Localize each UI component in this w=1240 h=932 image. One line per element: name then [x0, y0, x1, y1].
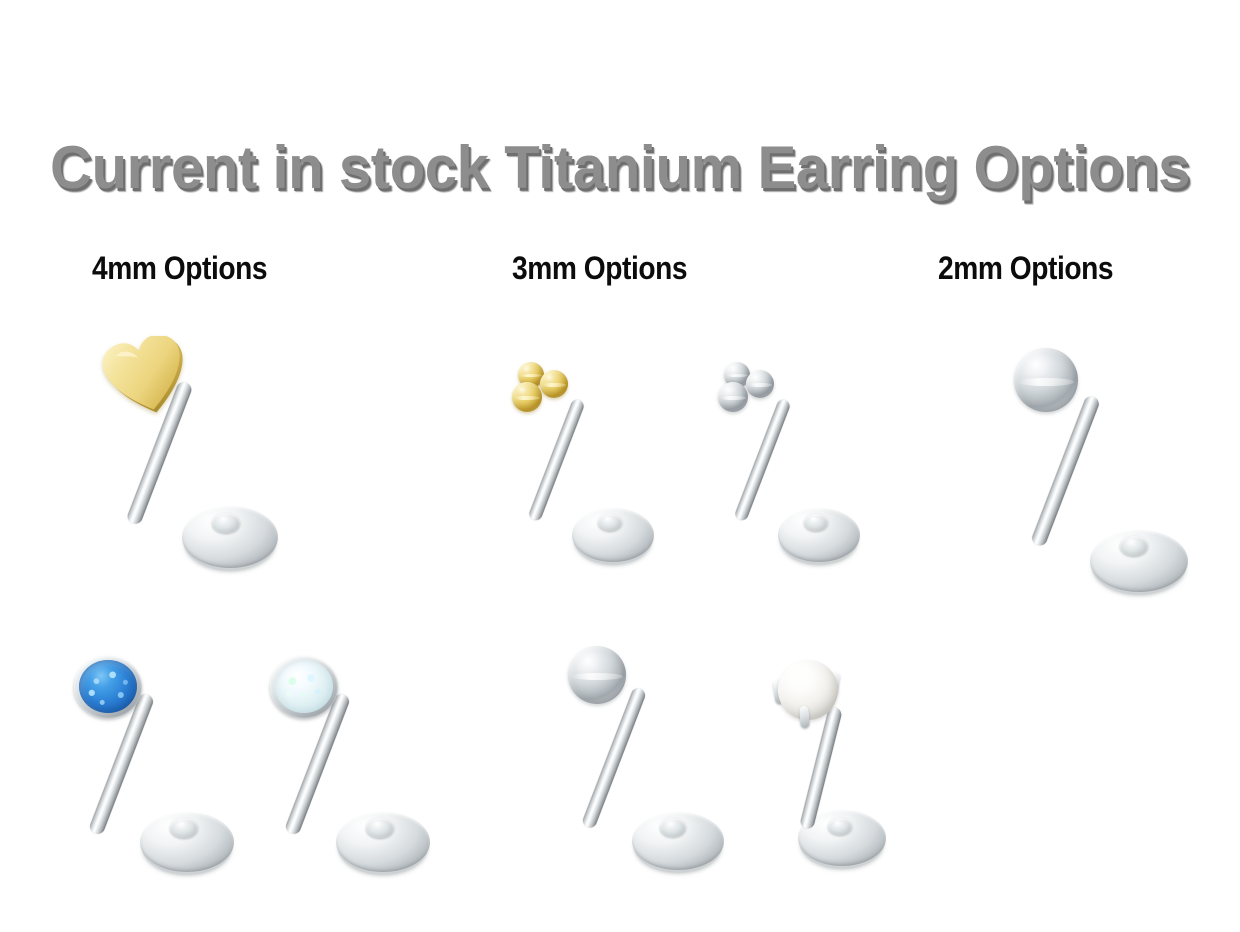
product-name: Gold Trinity Ball Cluster Labret Stud: [506, 360, 507, 361]
shaft-collar: [660, 818, 686, 837]
shaft: [733, 398, 791, 522]
shaft-collar: [804, 514, 828, 531]
prong-front: [799, 706, 810, 729]
ball-top: [1014, 348, 1078, 412]
shaft-collar: [1120, 536, 1148, 556]
heart-icon: [102, 336, 188, 414]
ball-top-right: [746, 370, 774, 398]
product-pearl-3mm[interactable]: Pearl Prong-Set Labret Stud: [768, 658, 948, 918]
shaft-collar: [366, 818, 394, 838]
product-name: Silver Ball Labret Stud: [1000, 340, 1001, 341]
ball-bottom: [512, 382, 542, 412]
white-opal-gem: [275, 660, 333, 713]
earring-options-poster: Current in stock Titanium Earring Option…: [0, 0, 1240, 932]
product-silver-trinity-3mm[interactable]: Silver Trinity Ball Cluster Labret Stud: [712, 360, 892, 620]
product-silver-ball-2mm[interactable]: Silver Ball Labret Stud: [1000, 340, 1180, 600]
product-name: Blue Opal Labret Stud: [66, 648, 67, 649]
shaft-collar: [212, 513, 240, 533]
product-silver-ball-3mm[interactable]: Silver Ball Labret Stud: [560, 640, 740, 900]
shaft: [527, 398, 585, 522]
column-heading-4mm: 4mm Options: [92, 252, 267, 284]
product-blue-opal-4mm[interactable]: Blue Opal Labret Stud: [66, 648, 246, 908]
column-heading-3mm: 3mm Options: [512, 252, 687, 284]
product-name: Pearl Prong-Set Labret Stud: [768, 658, 769, 659]
product-gold-trinity-3mm[interactable]: Gold Trinity Ball Cluster Labret Stud: [506, 360, 686, 620]
page-title: Current in stock Titanium Earring Option…: [19, 138, 1222, 198]
shaft: [581, 686, 647, 829]
shaft-collar: [828, 818, 852, 835]
ball-top: [568, 646, 626, 704]
ball-bottom: [718, 382, 748, 412]
blue-opal-gem: [79, 660, 137, 713]
product-white-opal-4mm[interactable]: White Opal Labret Stud: [262, 648, 442, 908]
product-name: White Opal Labret Stud: [262, 648, 263, 649]
product-name: Silver Trinity Ball Cluster Labret Stud: [712, 360, 713, 361]
shaft-collar: [170, 818, 198, 838]
product-gold-heart-4mm[interactable]: Gold Heart Labret Stud: [96, 330, 276, 590]
column-heading-2mm: 2mm Options: [938, 252, 1113, 284]
product-name: Silver Ball Labret Stud: [560, 640, 561, 641]
shaft-collar: [598, 514, 622, 531]
product-name: Gold Heart Labret Stud: [96, 330, 97, 331]
ball-top-right: [540, 370, 568, 398]
shaft: [1030, 395, 1101, 548]
